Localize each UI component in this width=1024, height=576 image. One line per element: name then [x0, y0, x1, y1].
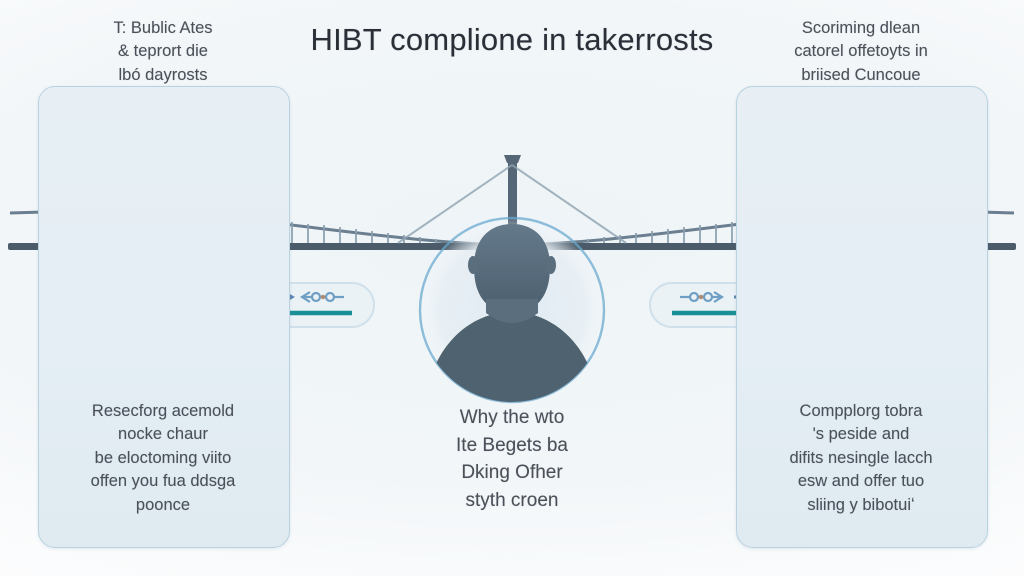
- left-panel-bottom-text: Resecforg acemold nocke chaur be eloctom…: [46, 400, 280, 517]
- right-bottom-line-2: 's peside and: [742, 423, 980, 446]
- left-bottom-line-4: offen you fua ddsgа: [46, 470, 280, 493]
- left-panel-top-text: T: Bublic Ates & teprort die lbó dayrost…: [48, 17, 278, 87]
- right-bottom-line-5: sliing y bibotuiʻ: [742, 494, 980, 517]
- left-top-line-2: & teprort die: [48, 40, 278, 63]
- right-top-line-3: briised Cuncoue: [746, 64, 976, 87]
- right-panel-top-text: Scoriming dlean catorel offetoyts in bri…: [746, 17, 976, 87]
- left-top-line-1: T: Bublic Ates: [48, 17, 278, 40]
- right-top-line-1: Scoriming dlean: [746, 17, 976, 40]
- left-top-line-3: lbó dayrosts: [48, 64, 278, 87]
- right-panel-bottom-text: Compplorg tobra 's peside and difits nes…: [742, 400, 980, 517]
- right-bottom-line-3: difits nesingle lacch: [742, 447, 980, 470]
- center-line-3: Dking Ofher: [362, 459, 662, 487]
- center-line-1: Why the wto: [362, 404, 662, 432]
- left-bottom-line-1: Resecforg acemold: [46, 400, 280, 423]
- right-bottom-line-1: Compplorg tobra: [742, 400, 980, 423]
- person-silhouette-icon: [420, 218, 604, 416]
- left-bottom-line-3: be eloctoming viito: [46, 447, 280, 470]
- center-caption: Why the wto Ite Begets bа Dking Ofher st…: [362, 404, 662, 514]
- diagram-canvas: $: [0, 0, 1024, 576]
- right-top-line-2: catorel offetoyts in: [746, 40, 976, 63]
- center-line-4: styth croen: [362, 487, 662, 515]
- right-bottom-line-4: esw and offer tuo: [742, 470, 980, 493]
- left-bottom-line-2: nocke chaur: [46, 423, 280, 446]
- left-bottom-line-5: poonce: [46, 494, 280, 517]
- center-line-2: Ite Begets bа: [362, 432, 662, 460]
